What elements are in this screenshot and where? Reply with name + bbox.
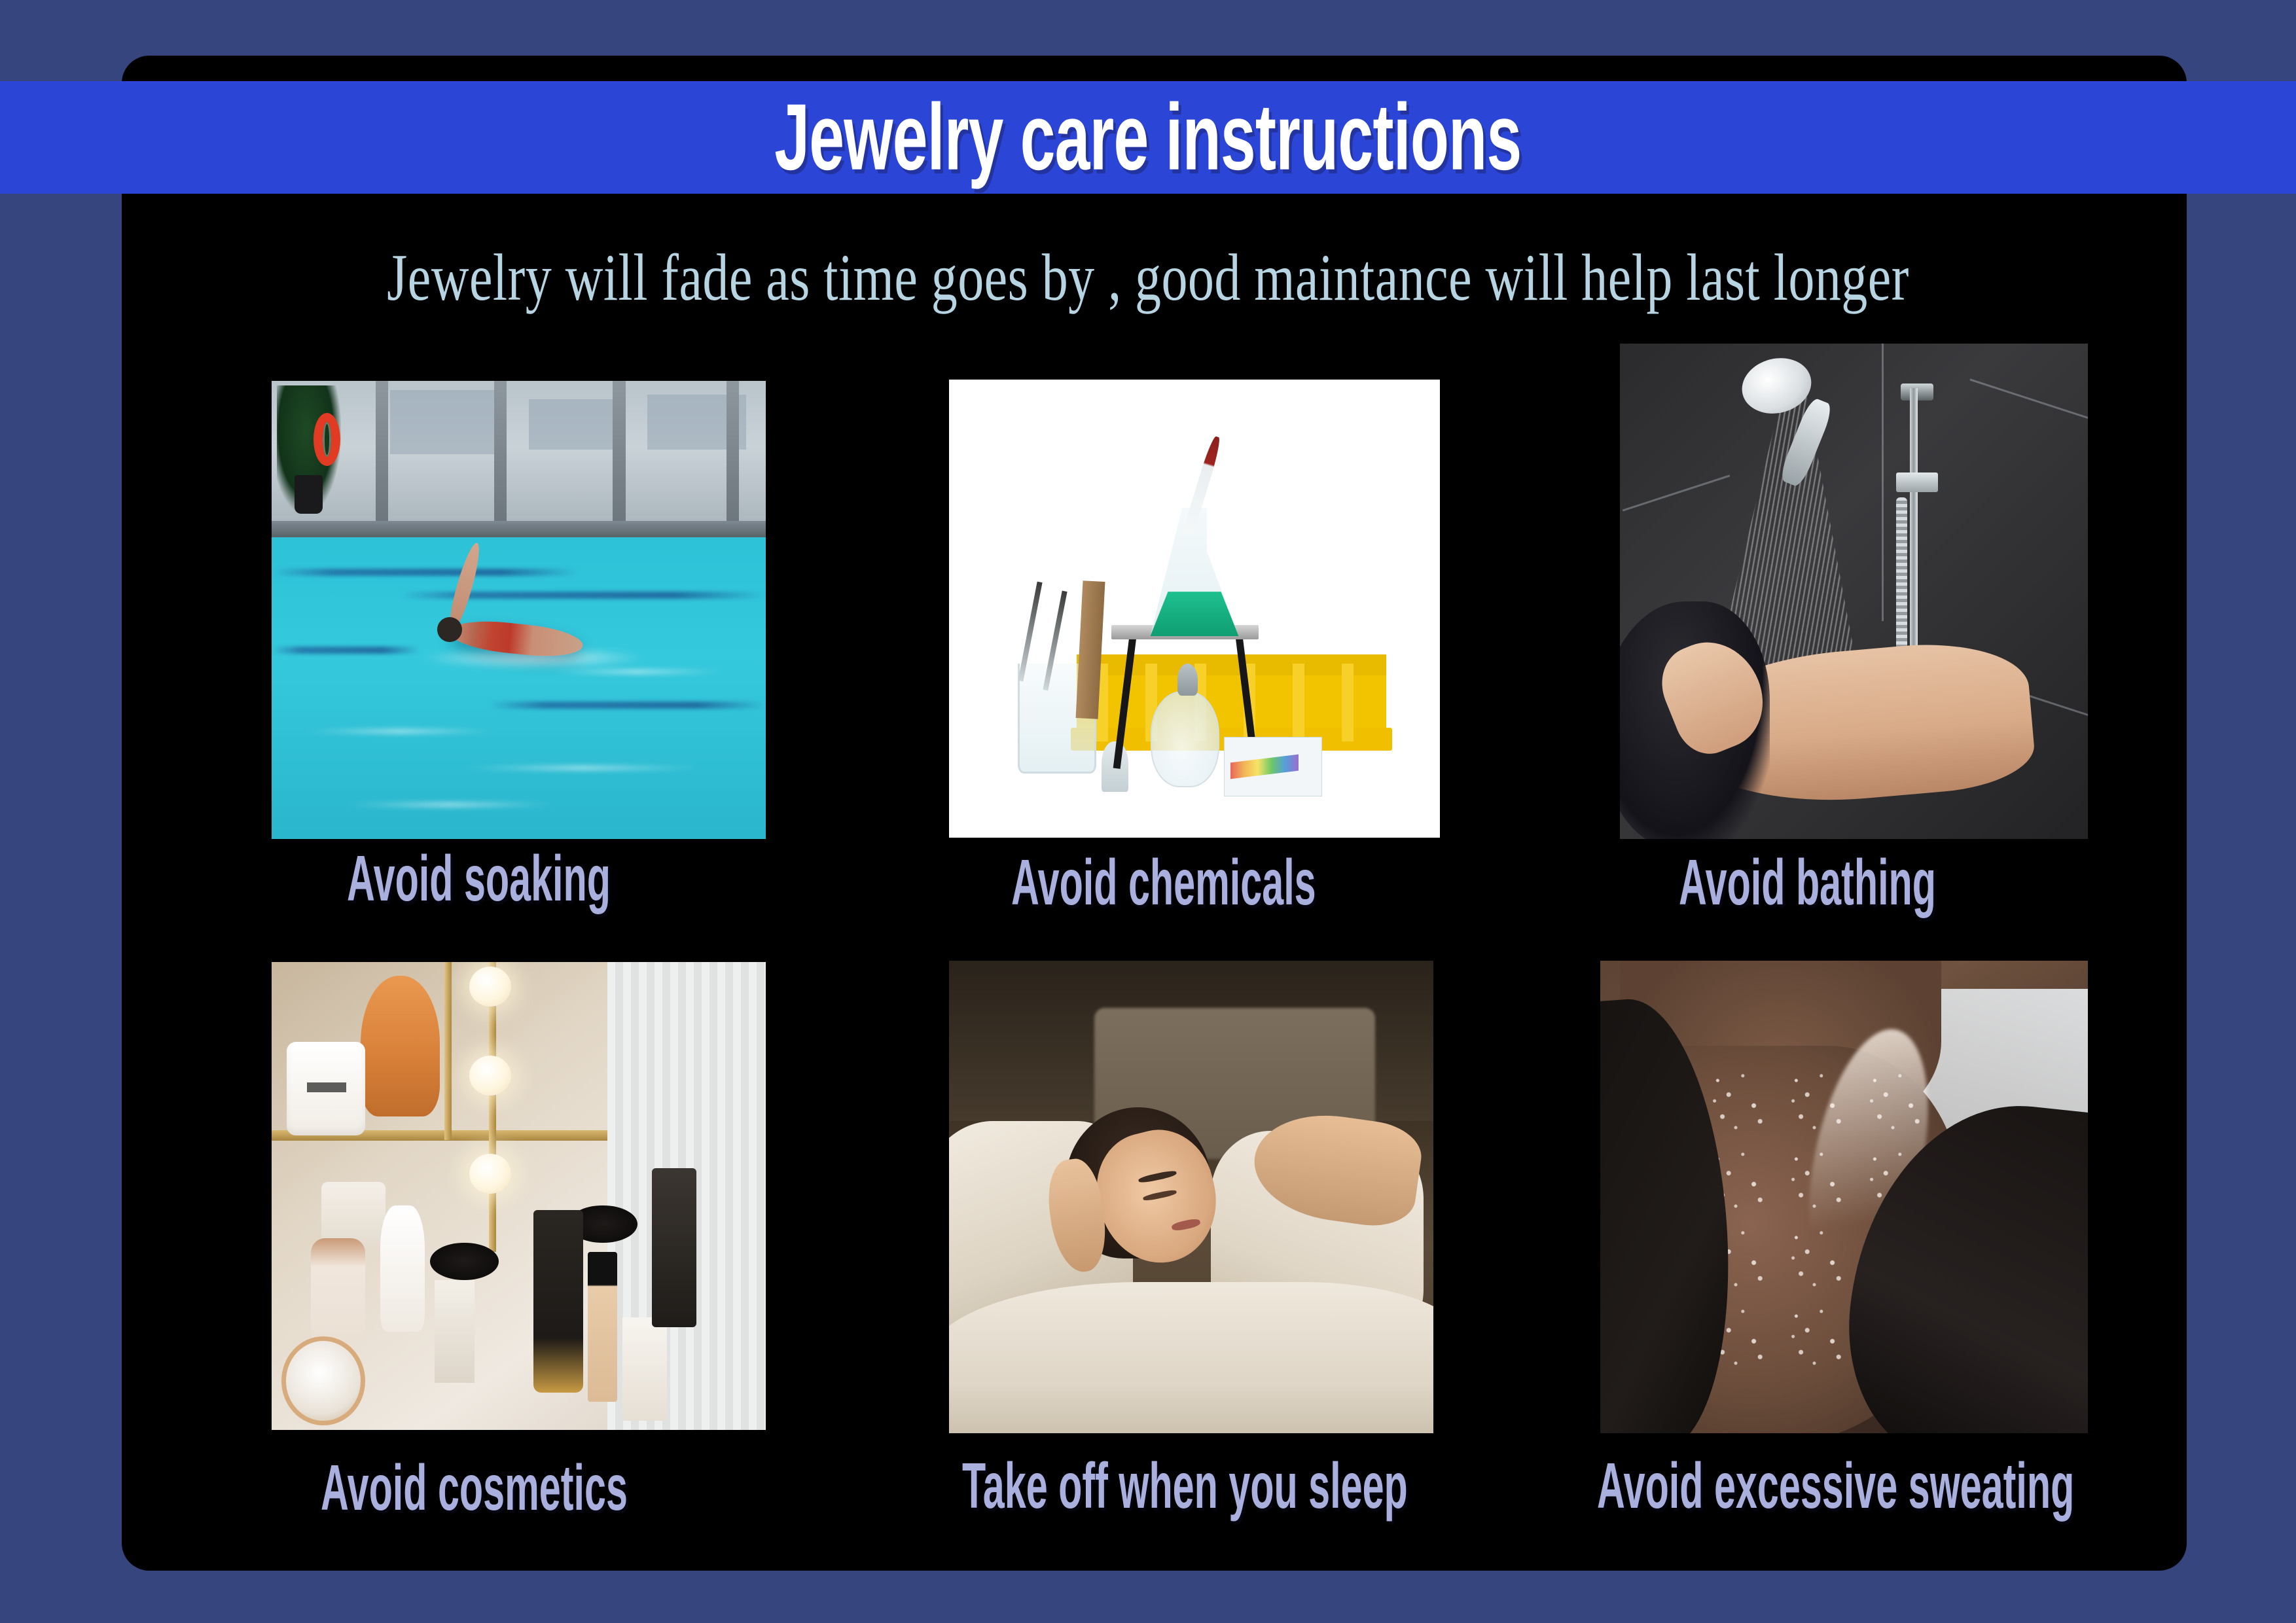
swimmer-head <box>437 617 462 643</box>
water-ripple <box>459 766 707 770</box>
make-up-for-ever-bottle <box>588 1252 617 1402</box>
woman-sleeping-photo <box>949 961 1433 1433</box>
tip-caption-avoid-excessive-sweating: Avoid excessive sweating <box>1597 1454 2074 1519</box>
slide-bar-holder <box>1896 473 1938 492</box>
rack-bar <box>1293 664 1304 741</box>
chemistry-lab-glassware-photo <box>949 380 1440 838</box>
shower-slide-bar <box>1910 388 1917 685</box>
vanity-light-bulb <box>469 1154 511 1194</box>
intro-text: Jewelry will fade as time goes by , good… <box>81 239 2215 316</box>
la-mer-serum-bottle <box>361 976 440 1116</box>
chanel-le-blanc-bottle <box>622 1317 667 1420</box>
tip-caption-avoid-cosmetics: Avoid cosmetics <box>321 1456 628 1521</box>
page-title: Jewelry care instructions <box>774 90 1521 185</box>
dark-cosmetic-tube <box>652 1168 696 1327</box>
evidens-tube <box>533 1210 583 1393</box>
pool-lane-line <box>489 702 766 709</box>
pool-lane-line <box>272 569 578 576</box>
pool-skyline <box>390 390 499 454</box>
vanity-light-bulb <box>469 967 511 1007</box>
pool-window-mullion <box>494 381 507 527</box>
title-banner: Jewelry care instructions <box>0 81 2296 194</box>
sk-ii-essence-bottle <box>380 1205 425 1332</box>
pool-lane-line <box>272 647 420 654</box>
tip-caption-take-off-when-you-sleep: Take off when you sleep <box>962 1454 1408 1519</box>
shower-photo <box>1620 344 2088 839</box>
tip-caption-avoid-soaking: Avoid soaking <box>347 847 611 912</box>
tile-grout-line <box>1623 475 1730 512</box>
pool-window-mullion <box>613 381 626 527</box>
vanity-post <box>444 962 452 1140</box>
tip-caption-avoid-bathing: Avoid bathing <box>1679 851 1936 916</box>
water-ripple <box>301 729 499 734</box>
alcohol-lamp-cap <box>1177 664 1198 696</box>
tile-grout-line <box>1970 378 2088 429</box>
tip-caption-avoid-chemicals: Avoid chemicals <box>1011 851 1316 916</box>
clarins-bottle <box>311 1238 365 1341</box>
jo-malone-bottle <box>435 1280 474 1383</box>
pool-window-mullion <box>376 381 389 527</box>
alcohol-lamp <box>1151 691 1219 787</box>
ribbon-bow <box>430 1243 499 1280</box>
pool-skyline <box>529 399 618 450</box>
la-mer-cream-jar <box>287 1042 366 1135</box>
cosmetics-vanity-photo <box>272 962 766 1430</box>
life-ring-icon <box>314 413 340 466</box>
duvet <box>949 1282 1433 1433</box>
water-ripple <box>548 669 726 674</box>
infographic-root: Jewelry care instructions Jewelry will f… <box>0 0 2296 1623</box>
compact-mirror <box>281 1336 365 1425</box>
tile-grout-line <box>1882 344 1884 621</box>
rack-bar <box>1342 664 1354 741</box>
vanity-light-bulb <box>469 1056 511 1096</box>
pool-window-mullion <box>726 381 740 527</box>
ph-test-paper-box <box>1224 737 1322 796</box>
pool-deck <box>272 521 766 537</box>
sweating-skin-photo <box>1600 961 2088 1433</box>
swimming-pool-photo <box>272 381 766 839</box>
water-ripple <box>341 802 558 807</box>
